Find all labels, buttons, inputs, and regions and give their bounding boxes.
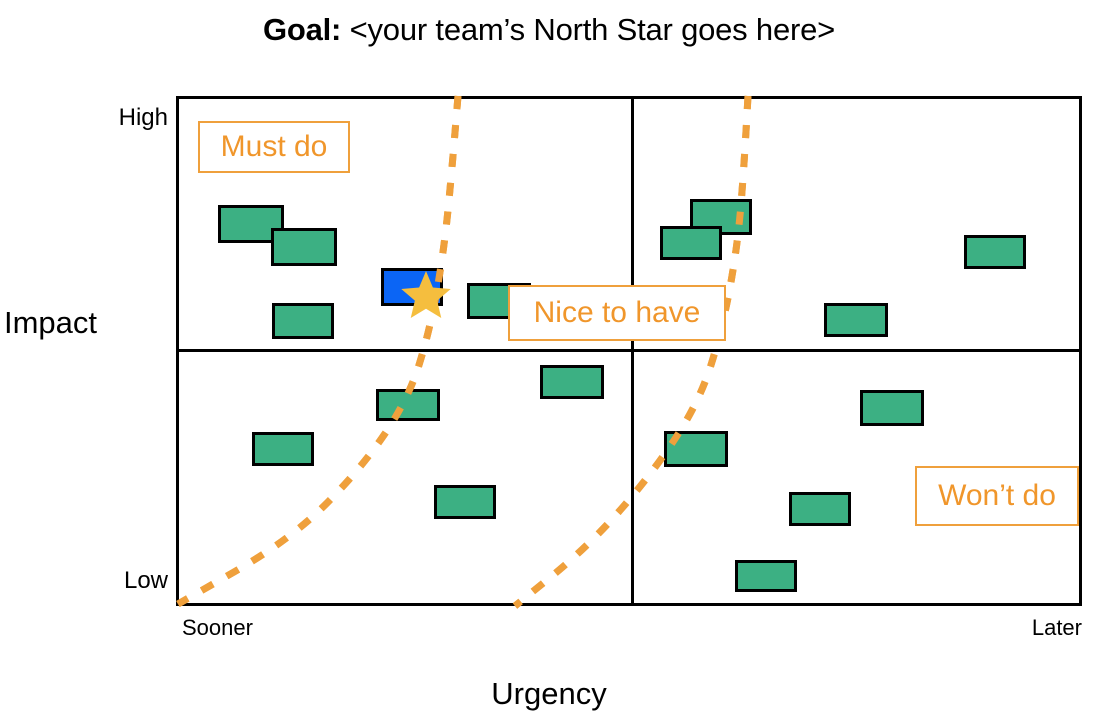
axis-tick-later: Later <box>1018 615 1082 641</box>
axis-tick-sooner: Sooner <box>182 615 253 641</box>
quadrant-label-text: Must do <box>221 130 328 164</box>
item-card[interactable] <box>862 392 923 425</box>
item-card[interactable] <box>662 228 721 259</box>
axis-tick-low: Low <box>110 567 168 595</box>
item-card[interactable] <box>274 305 333 338</box>
quadrant-label-text: Nice to have <box>534 296 701 330</box>
quadrant-label-nice-to-have: Nice to have <box>508 285 726 341</box>
item-card[interactable] <box>273 230 336 265</box>
item-card[interactable] <box>737 562 796 591</box>
quadrant-label-text: Won’t do <box>938 479 1056 513</box>
y-axis-label: Impact <box>4 305 164 341</box>
x-axis-label: Urgency <box>0 676 1098 712</box>
item-card[interactable] <box>966 237 1025 268</box>
item-card[interactable] <box>436 487 495 518</box>
item-card[interactable] <box>542 367 603 398</box>
item-card[interactable] <box>791 494 850 525</box>
axis-tick-high: High <box>110 104 168 132</box>
curve-right-overlay <box>515 96 748 606</box>
curve-right <box>515 96 748 606</box>
item-card[interactable] <box>378 391 439 420</box>
item-card[interactable] <box>254 434 313 465</box>
item-card-group <box>220 201 1025 591</box>
item-card[interactable] <box>826 305 887 336</box>
quadrant-label-wont-do: Won’t do <box>915 466 1079 526</box>
quadrant-label-must-do: Must do <box>198 121 350 173</box>
